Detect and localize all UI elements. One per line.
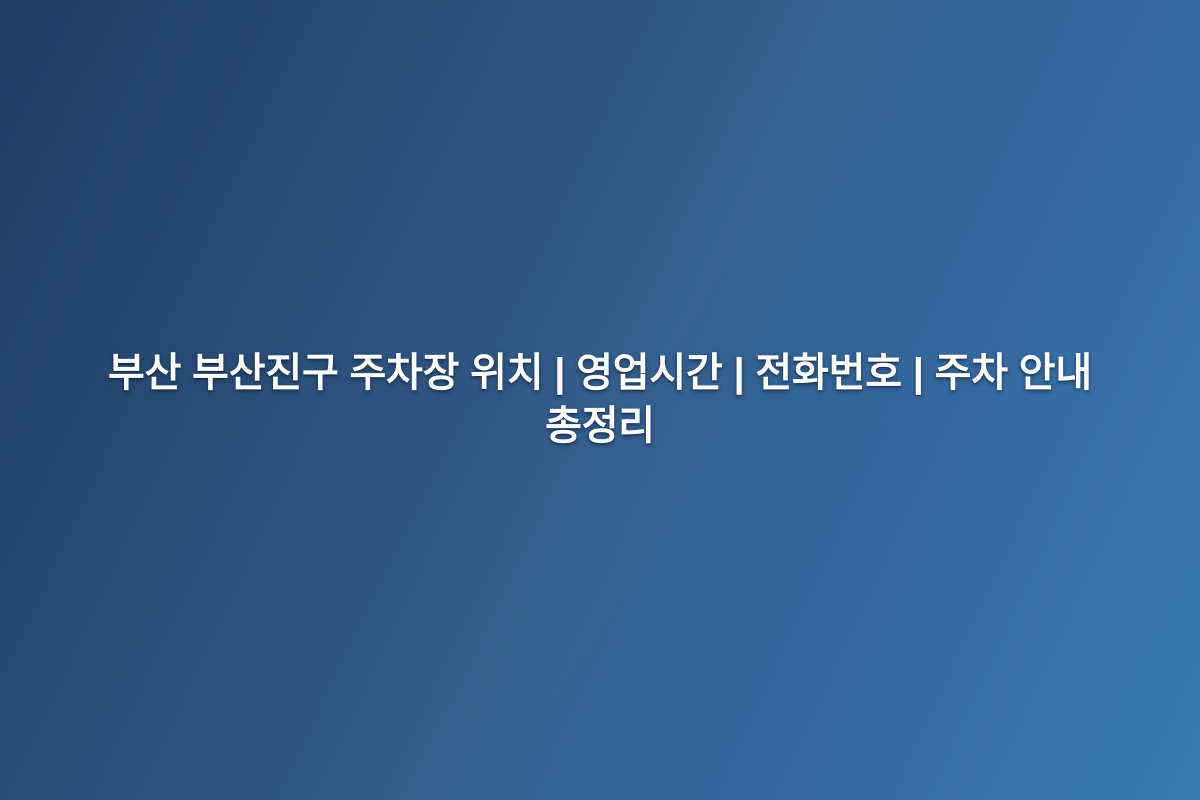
banner-title: 부산 부산진구 주차장 위치 | 영업시간 | 전화번호 | 주차 안내 총정리 [90, 347, 1110, 453]
banner-content: 부산 부산진구 주차장 위치 | 영업시간 | 전화번호 | 주차 안내 총정리 [50, 347, 1150, 453]
hero-banner: 부산 부산진구 주차장 위치 | 영업시간 | 전화번호 | 주차 안내 총정리 [0, 0, 1200, 800]
